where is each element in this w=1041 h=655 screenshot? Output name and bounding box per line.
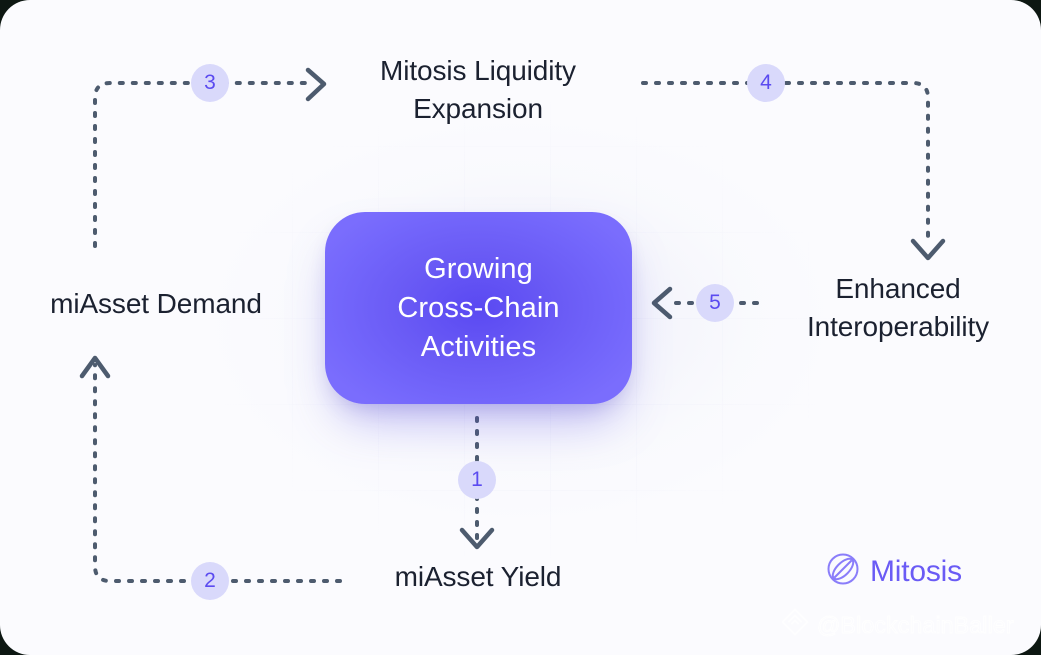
arrowhead-step-5 (654, 289, 670, 317)
connector-step-4 (643, 83, 928, 240)
mitosis-logo-icon (826, 552, 860, 591)
arrowhead-step-4 (913, 241, 943, 258)
step-badge-3[interactable]: 3 (191, 64, 229, 102)
watermark-handle: @BlockchainBaller (817, 611, 1014, 639)
center-node[interactable]: Growing Cross-Chain Activities (325, 212, 632, 404)
node-label-mitosis-liquidity-expansion: Mitosis Liquidity Expansion (318, 52, 638, 128)
brand-lockup: Mitosis (826, 552, 962, 591)
center-node-label: Growing Cross-Chain Activities (397, 250, 559, 367)
arrowhead-step-2 (82, 358, 108, 376)
step-badge-5[interactable]: 5 (696, 284, 734, 322)
brand-name: Mitosis (870, 555, 962, 589)
node-label-miasset-yield: miAsset Yield (348, 558, 608, 596)
connector-step-3 (95, 83, 310, 246)
arrowhead-step-1 (462, 530, 492, 547)
screenshot-root: Growing Cross-Chain Activities Mitosis L… (0, 0, 1041, 655)
node-label-enhanced-interoperability: Enhanced Interoperability (748, 270, 1041, 346)
diagram-card: Growing Cross-Chain Activities Mitosis L… (0, 0, 1041, 655)
step-badge-2[interactable]: 2 (191, 562, 229, 600)
diamond-icon (780, 607, 810, 642)
connector-step-2 (95, 365, 340, 581)
watermark: @BlockchainBaller (780, 607, 1014, 642)
step-badge-1[interactable]: 1 (458, 461, 496, 499)
node-label-miasset-demand: miAsset Demand (6, 285, 306, 323)
step-badge-4[interactable]: 4 (747, 64, 785, 102)
